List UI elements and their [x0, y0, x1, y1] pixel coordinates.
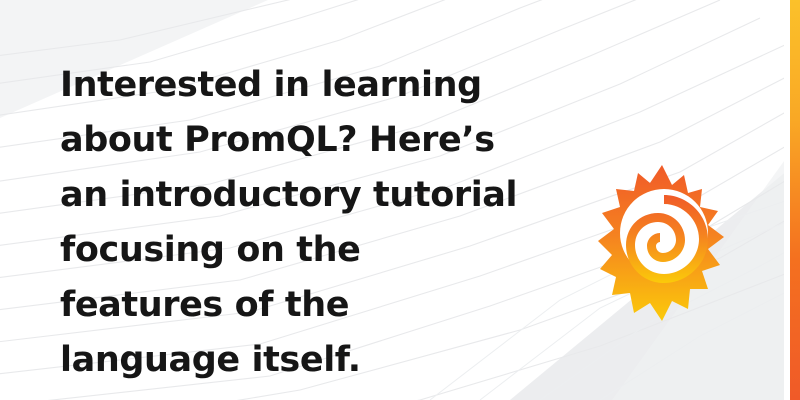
accent-strip [790, 0, 800, 400]
promo-banner: Interested in learning about PromQL? Her… [0, 0, 800, 400]
grafana-logo-icon [598, 163, 730, 323]
banner-headline: Interested in learning about PromQL? Her… [60, 58, 530, 388]
